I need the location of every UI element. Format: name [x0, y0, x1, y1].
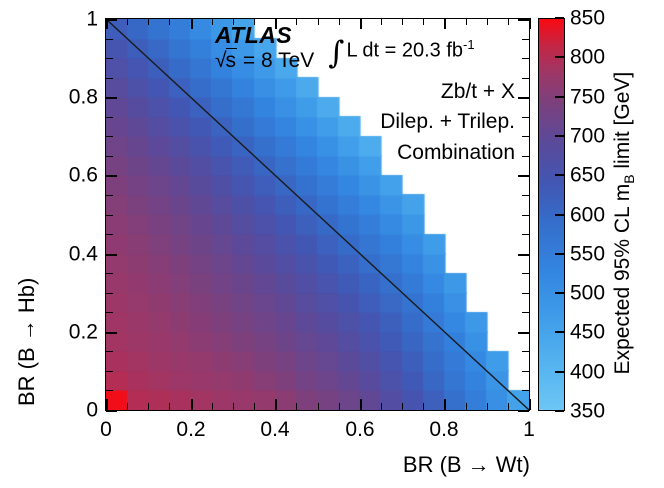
- center-of-mass-energy-label: √s = 8 TeV: [215, 50, 314, 71]
- axis-tick: [191, 18, 193, 29]
- axis-tick: [529, 399, 531, 410]
- axis-tick: [212, 403, 213, 410]
- axis-tick: [106, 39, 113, 40]
- colorbar-tick-label: 700: [570, 126, 605, 147]
- axis-tick: [522, 312, 529, 313]
- axis-tick: [106, 234, 113, 235]
- colorbar-title-tail: limit [GeV]: [611, 72, 634, 175]
- colorbar-tick-label: 400: [570, 362, 605, 383]
- axis-tick: [508, 403, 509, 410]
- colorbar-tick-label: 750: [570, 87, 605, 108]
- y-tick-label: 0: [40, 400, 98, 421]
- colorbar-tick-label: 550: [570, 244, 605, 265]
- x-tick-label: 0.4: [260, 419, 289, 440]
- sqrt-symbol: √: [215, 49, 227, 72]
- combination-label: Combination: [215, 142, 515, 163]
- axis-tick: [522, 156, 529, 157]
- colorbar-tick: [555, 174, 564, 176]
- axis-tick: [106, 332, 117, 334]
- axis-tick: [106, 156, 113, 157]
- axis-tick: [339, 403, 340, 410]
- x-axis-title: BR (B → Wt): [0, 452, 530, 478]
- axis-tick: [106, 410, 117, 412]
- axis-tick: [106, 390, 113, 391]
- axis-tick: [518, 175, 529, 177]
- axis-tick: [127, 18, 128, 25]
- axis-tick: [106, 175, 117, 177]
- axis-tick: [169, 403, 170, 410]
- axis-tick: [106, 351, 113, 352]
- luminosity-exponent: -1: [463, 37, 475, 52]
- axis-tick: [522, 78, 529, 79]
- axis-tick: [169, 18, 170, 25]
- axis-tick: [212, 18, 213, 25]
- axis-tick: [106, 97, 117, 99]
- y-tick-label: 0.8: [40, 87, 98, 108]
- legend-block: ATLAS √s = 8 TeV ∫L dt = 20.3 fb-1 Zb/t …: [215, 24, 515, 163]
- x-tick-label: 0: [100, 419, 112, 440]
- process-label: Zb/t + X: [215, 81, 515, 102]
- axis-tick: [522, 371, 529, 372]
- axis-tick: [106, 399, 108, 410]
- axis-tick: [522, 234, 529, 235]
- colorbar-title-main: Expected 95% CL m: [611, 184, 634, 375]
- figure-root: 00.20.40.60.8100.20.40.60.81 BR (B → Wt)…: [0, 0, 664, 488]
- axis-tick: [254, 403, 255, 410]
- channels-label: Dilep. + Trilep.: [215, 111, 515, 132]
- y-tick-label: 0.2: [40, 322, 98, 343]
- axis-tick: [518, 410, 529, 412]
- axis-tick: [518, 19, 529, 21]
- axis-tick: [191, 399, 193, 410]
- axis-tick: [106, 78, 113, 79]
- x-tick-label: 0.6: [345, 419, 374, 440]
- axis-tick: [106, 19, 117, 21]
- axis-tick: [529, 18, 531, 29]
- y-tick-label: 1: [40, 9, 98, 30]
- axis-tick: [522, 293, 529, 294]
- axis-tick: [296, 403, 297, 410]
- colorbar-tick-label: 450: [570, 322, 605, 343]
- axis-tick: [148, 18, 149, 25]
- axis-tick: [522, 351, 529, 352]
- atlas-label: ATLAS: [215, 24, 314, 47]
- y-tick-label: 0.4: [40, 244, 98, 265]
- axis-tick: [466, 403, 467, 410]
- colorbar-title: Expected 95% CL mB limit [GeV]: [611, 23, 637, 423]
- axis-tick: [106, 312, 113, 313]
- y-axis-title: BR (B → Hb): [14, 16, 40, 406]
- axis-tick: [522, 117, 529, 118]
- axis-tick: [518, 97, 529, 99]
- axis-tick: [522, 136, 529, 137]
- axis-tick: [444, 399, 446, 410]
- axis-tick: [402, 403, 403, 410]
- axis-tick: [106, 273, 113, 274]
- y-tick-label: 0.6: [40, 165, 98, 186]
- axis-tick: [522, 39, 529, 40]
- colorbar-tick-label: 850: [570, 8, 605, 29]
- axis-tick: [522, 215, 529, 216]
- axis-tick: [487, 403, 488, 410]
- colorbar-tick-label: 350: [570, 401, 605, 422]
- atlas-block: ATLAS √s = 8 TeV: [215, 24, 314, 72]
- axis-tick: [318, 403, 319, 410]
- axis-tick: [106, 371, 113, 372]
- axis-tick: [106, 117, 113, 118]
- colorbar-tick: [555, 214, 564, 216]
- colorbar-tick-label: 650: [570, 165, 605, 186]
- axis-tick: [106, 254, 117, 256]
- axis-tick: [381, 403, 382, 410]
- axis-tick: [127, 403, 128, 410]
- colorbar-tick: [555, 253, 564, 255]
- colorbar-tick: [555, 96, 564, 98]
- colorbar-title-subscript: B: [621, 174, 637, 183]
- axis-tick: [522, 273, 529, 274]
- colorbar-tick: [555, 410, 564, 412]
- axis-tick: [423, 403, 424, 410]
- x-tick-label: 1: [523, 419, 535, 440]
- axis-tick: [106, 215, 113, 216]
- axis-tick: [106, 293, 113, 294]
- axis-tick: [233, 403, 234, 410]
- legend-header-row: ATLAS √s = 8 TeV ∫L dt = 20.3 fb-1: [215, 24, 515, 72]
- axis-tick: [106, 136, 113, 137]
- axis-tick: [522, 195, 529, 196]
- luminosity-text: L dt = 20.3 fb: [346, 40, 463, 62]
- axis-tick: [522, 390, 529, 391]
- sqrt-s-body: s: [226, 48, 238, 72]
- colorbar-tick-label: 800: [570, 47, 605, 68]
- axis-tick: [148, 403, 149, 410]
- integral-icon: ∫: [328, 35, 344, 71]
- colorbar-tick: [555, 371, 564, 373]
- energy-value: = 8 TeV: [237, 49, 314, 72]
- colorbar-tick: [555, 56, 564, 58]
- x-tick-label: 0.2: [176, 419, 205, 440]
- colorbar-tick: [555, 17, 564, 19]
- axis-tick: [522, 58, 529, 59]
- colorbar-tick-label: 500: [570, 283, 605, 304]
- integrated-luminosity-label: ∫L dt = 20.3 fb-1: [328, 38, 474, 61]
- axis-tick: [518, 254, 529, 256]
- colorbar-tick: [555, 292, 564, 294]
- axis-tick: [518, 332, 529, 334]
- axis-tick: [106, 195, 113, 196]
- colorbar-tick-label: 600: [570, 205, 605, 226]
- axis-tick: [275, 399, 277, 410]
- axis-tick: [106, 58, 113, 59]
- colorbar-tick: [555, 135, 564, 137]
- x-tick-label: 0.8: [429, 419, 458, 440]
- colorbar-tick: [555, 331, 564, 333]
- axis-tick: [360, 399, 362, 410]
